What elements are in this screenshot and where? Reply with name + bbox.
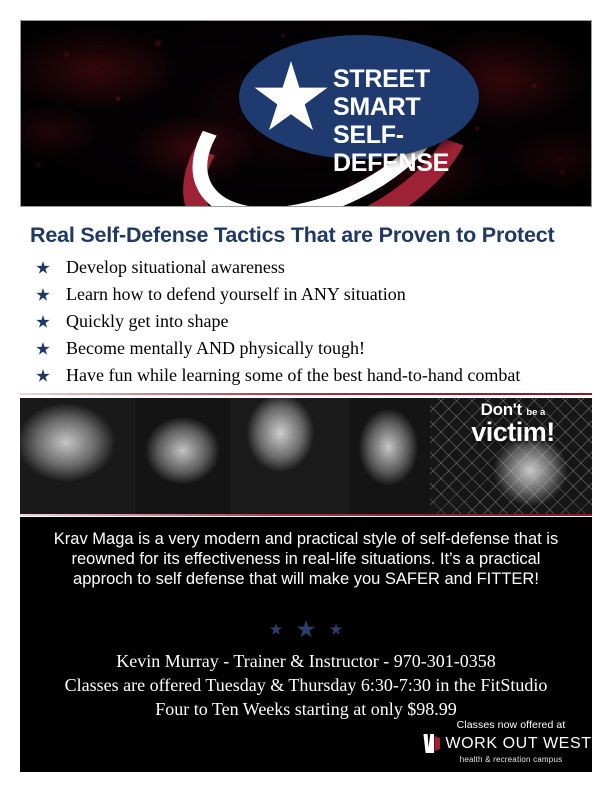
page-title: Real Self-Defense Tactics That are Prove… [30,223,590,248]
photo-strip: Don't be a victim! [20,398,592,515]
star-icon [270,623,283,636]
divider-under-banner [20,210,592,213]
contact-details: Kevin Murray - Trainer & Instructor - 97… [36,650,576,722]
schedule-line: Classes are offered Tuesday & Thursday 6… [36,674,576,698]
star-icon [36,369,50,383]
star-divider [20,620,592,640]
krav-maga-description: Krav Maga is a very modern and practical… [48,530,564,590]
info-panel: Krav Maga is a very modern and practical… [20,517,592,772]
sponsor-subtitle: health & recreation campus [436,755,586,764]
divider-above-photos [20,393,592,395]
list-item: Learn how to defend yourself in ANY situ… [30,281,590,308]
mark-red-shape [434,736,440,751]
divider-below-photos [20,514,592,516]
benefits-list: Develop situational awareness Learn how … [30,254,590,389]
list-item-label: Quickly get into shape [66,308,228,335]
sponsor-name-row: WORK OUT WEST™ [436,734,586,753]
instructor-line: Kevin Murray - Trainer & Instructor - 97… [36,650,576,674]
list-item-label: Develop situational awareness [66,254,285,281]
flyer-page: STREET SMART SELF-DEFENSE Real Self-Defe… [0,0,612,792]
list-item-label: Learn how to defend yourself in ANY situ… [66,281,406,308]
sponsor-tagline: Classes now offered at [436,719,586,731]
star-icon [36,288,50,302]
logo-line-1: STREET SMART [333,65,483,121]
brand-logo: STREET SMART SELF-DEFENSE [161,29,491,204]
star-icon [36,261,50,275]
list-item: Have fun while learning some of the best… [30,362,590,389]
logo-wordmark: STREET SMART SELF-DEFENSE [333,65,483,177]
header-banner: STREET SMART SELF-DEFENSE [20,20,592,207]
star-icon [330,623,343,636]
star-icon [36,315,50,329]
list-item-label: Have fun while learning some of the best… [66,362,520,389]
overlay-line-1: Don't be a [448,401,578,418]
sponsor-logo: Classes now offered at WORK OUT WEST™ he… [436,719,586,764]
list-item: Develop situational awareness [30,254,590,281]
photo-training-3 [350,398,430,515]
star-icon [297,620,316,639]
photo-krav-maga-woman [230,398,350,515]
logo-line-2: SELF-DEFENSE [333,121,483,177]
photo-training-1 [20,398,135,515]
list-item: Quickly get into shape [30,308,590,335]
overlay-victim-text: victim! [448,419,578,446]
list-item: Become mentally AND physically tough! [30,335,590,362]
sponsor-name-text: WORK OUT WEST [445,735,591,752]
photo-training-2 [135,398,230,515]
trademark-symbol: ™ [592,736,599,743]
work-out-west-mark-icon [423,734,440,753]
star-icon [36,342,50,356]
mark-white-shape [423,734,434,753]
list-item-label: Become mentally AND physically tough! [66,335,365,362]
dont-be-a-victim-overlay: Don't be a victim! [448,401,578,446]
sponsor-name: WORK OUT WEST™ [445,735,598,753]
